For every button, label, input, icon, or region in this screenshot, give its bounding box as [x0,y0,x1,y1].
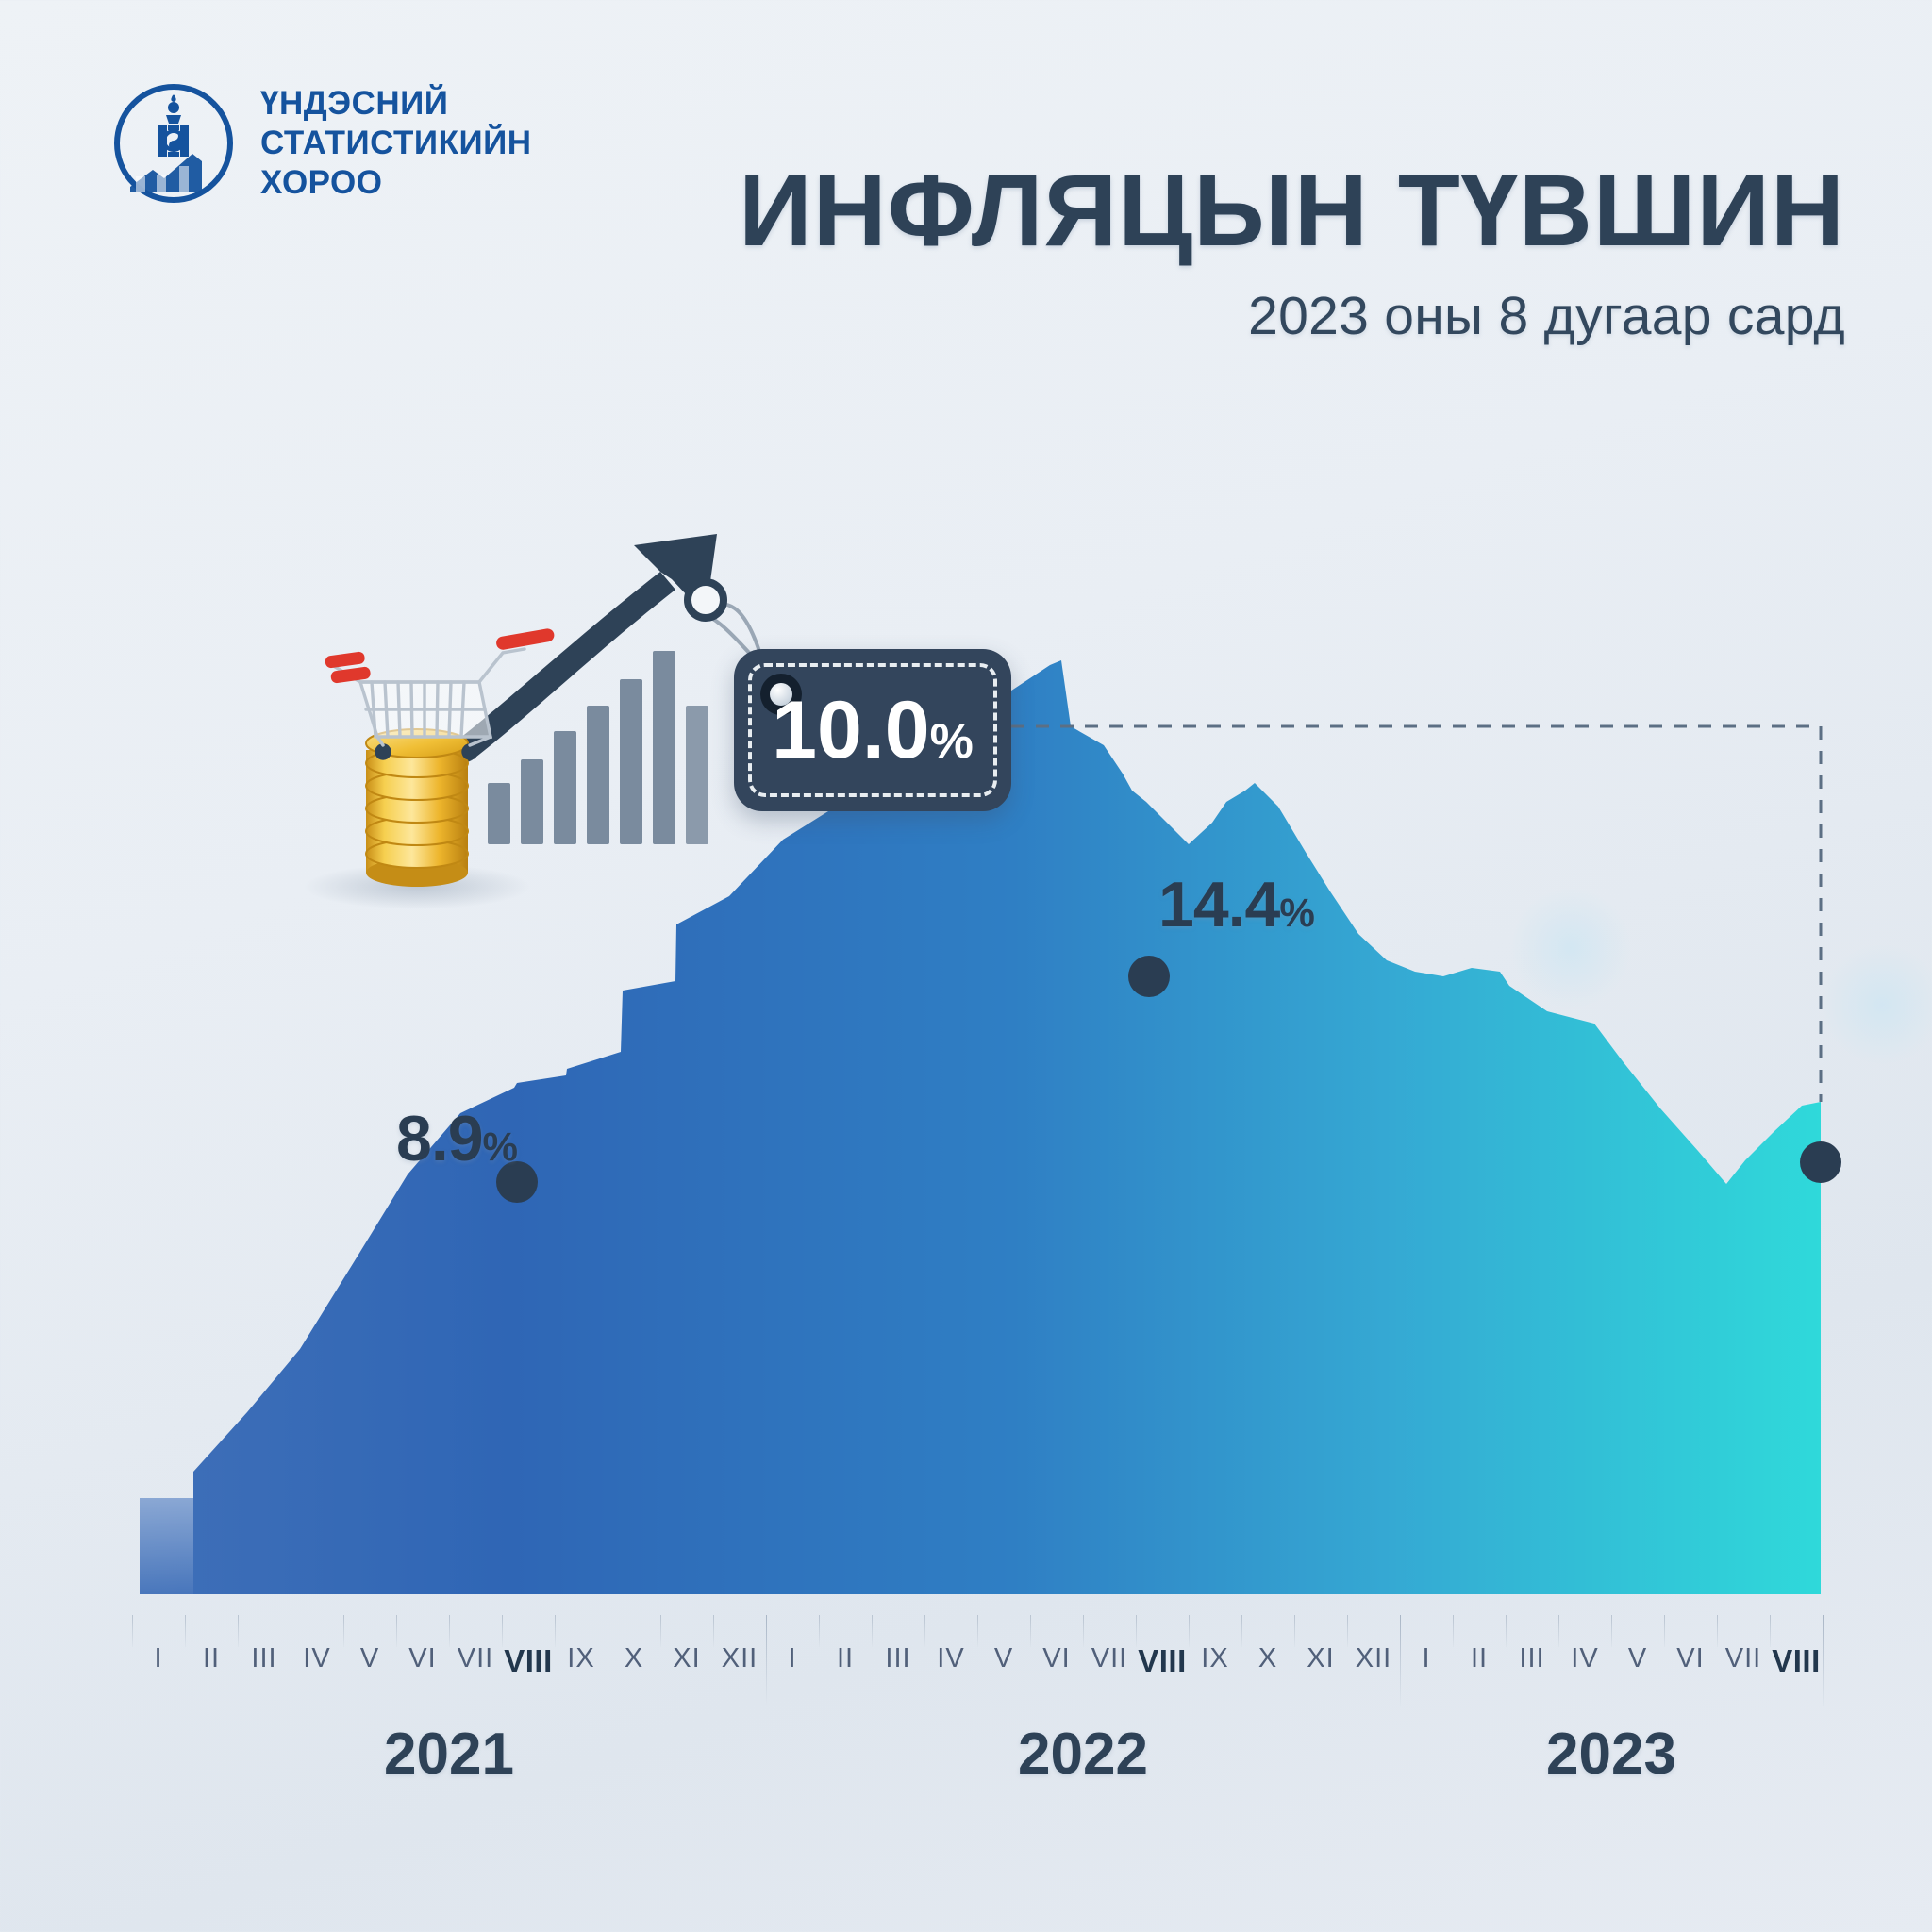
cart-handle-icon [325,627,555,684]
highlight-value: 10.0% [772,684,974,777]
tick-label-vi: VI [1042,1643,1070,1674]
tick-rule [872,1615,873,1647]
tick-label-iii: III [885,1643,910,1674]
tick-rule [1294,1615,1295,1647]
callout-start-value: 8.9 [396,1103,483,1174]
year-label-2022: 2022 [1018,1721,1148,1788]
tick-label-iv: IV [303,1643,330,1674]
highlight-price-tag: 10.0% [734,649,1011,811]
tick-label-viii: VIII [504,1643,553,1679]
tick-label-v: V [360,1643,379,1674]
tick-label-vii: VII [458,1643,493,1674]
tick-rule [819,1615,820,1647]
tick-rule [1347,1615,1348,1647]
tick-rule [1189,1615,1190,1647]
tick-label-ii: II [837,1643,854,1674]
tick-rule [766,1615,767,1706]
tick-label-vi: VI [408,1643,436,1674]
tick-rule [1453,1615,1454,1647]
tick-rule [1030,1615,1031,1647]
tick-label-vii: VII [1725,1643,1761,1674]
tick-label-xi: XI [673,1643,700,1674]
tick-rule [396,1615,397,1647]
tick-label-xii: XII [1356,1643,1391,1674]
tick-rule [924,1615,925,1647]
tick-rule [1136,1615,1137,1647]
tick-label-i: I [154,1643,162,1674]
tick-rule [343,1615,344,1647]
tick-label-ix: IX [567,1643,594,1674]
callout-peak-unit: % [1279,891,1313,935]
tick-rule [1611,1615,1612,1647]
ascending-bars-icon [488,651,708,844]
tick-rule [660,1615,661,1647]
tick-label-ii: II [203,1643,220,1674]
callout-peak-label: 14.4% [1158,868,1314,941]
tick-rule [1770,1615,1771,1647]
year-label-2023: 2023 [1546,1721,1676,1788]
tick-rule [555,1615,556,1647]
tick-rule [291,1615,291,1647]
tick-label-xii: XII [722,1643,758,1674]
tick-rule [185,1615,186,1647]
x-axis-ticks: IIIIIIIVVVIVIIVIIIIXXXIXIIIIIIIIIVVVIVII… [132,1609,1823,1694]
highlight-percent-sign: % [930,714,974,769]
x-axis: IIIIIIIVVVIVIIVIIIIXXXIXIIIIIIIIIVVVIVII… [0,1609,1932,1694]
tick-label-v: V [994,1643,1013,1674]
tick-rule [1823,1615,1824,1706]
tick-rule [1717,1615,1718,1647]
tick-rule [132,1615,133,1647]
tick-label-viii: VIII [1138,1643,1187,1679]
tick-rule [1664,1615,1665,1647]
tick-rule [502,1615,503,1647]
tick-rule [713,1615,714,1647]
tick-label-i: I [788,1643,796,1674]
callout-start-unit: % [483,1124,517,1169]
tick-label-iii: III [251,1643,276,1674]
tick-label-v: V [1628,1643,1647,1674]
infographic-canvas: ҮНДЭСНИЙ СТАТИСТИКИЙН ХОРОО ИНФЛЯЦЫН ТҮВ… [0,0,1932,1932]
tick-label-iv: IV [937,1643,964,1674]
tick-rule [1506,1615,1507,1647]
tick-label-vii: VII [1091,1643,1127,1674]
tick-rule [1400,1615,1401,1706]
tick-label-x: X [625,1643,643,1674]
tick-label-i: I [1422,1643,1430,1674]
tick-label-x: X [1258,1643,1277,1674]
tick-label-ix: IX [1201,1643,1228,1674]
tick-label-iv: IV [1571,1643,1598,1674]
tick-rule [977,1615,978,1647]
tick-label-iii: III [1519,1643,1544,1674]
data-marker-last [1800,1141,1841,1183]
tick-rule [1558,1615,1559,1647]
tick-rule [238,1615,239,1647]
area-left-fade [140,1498,193,1594]
tick-label-ii: II [1471,1643,1488,1674]
tick-rule [1083,1615,1084,1647]
tick-rule [1241,1615,1242,1647]
highlight-number: 10.0 [772,685,929,775]
tick-rule [608,1615,608,1647]
tick-label-xi: XI [1307,1643,1334,1674]
tick-label-viii: VIII [1772,1643,1821,1679]
tick-rule [449,1615,450,1647]
data-marker-peak [1128,956,1170,997]
arrow-tip-loop-icon [688,582,724,618]
tick-label-vi: VI [1676,1643,1704,1674]
year-label-2021: 2021 [384,1721,514,1788]
callout-peak-value: 14.4 [1158,869,1279,941]
callout-start-label: 8.9% [396,1102,517,1175]
